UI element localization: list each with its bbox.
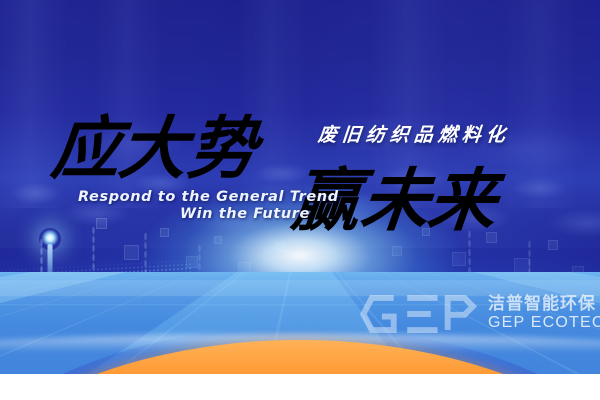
particle-square [124, 245, 139, 260]
particle-square [452, 252, 466, 266]
tower-light-bulb [39, 228, 61, 250]
particle-square [308, 258, 319, 269]
particle-square [160, 228, 169, 237]
particle-square [276, 242, 285, 251]
brand-name-chinese: 洁普智能环保 [488, 296, 600, 314]
particle-square [214, 236, 222, 244]
particle-square [486, 232, 497, 243]
promo-banner: 应大势 赢未来 废旧纺织品燃料化 Respond to the General … [0, 0, 600, 400]
bottom-arc [0, 326, 600, 400]
particle-square [392, 246, 402, 256]
textile-bale-streaks [0, 0, 600, 208]
arc-white-base [0, 374, 600, 400]
particle-square [96, 218, 107, 229]
particle-square [548, 240, 558, 250]
particle-square [422, 228, 430, 236]
